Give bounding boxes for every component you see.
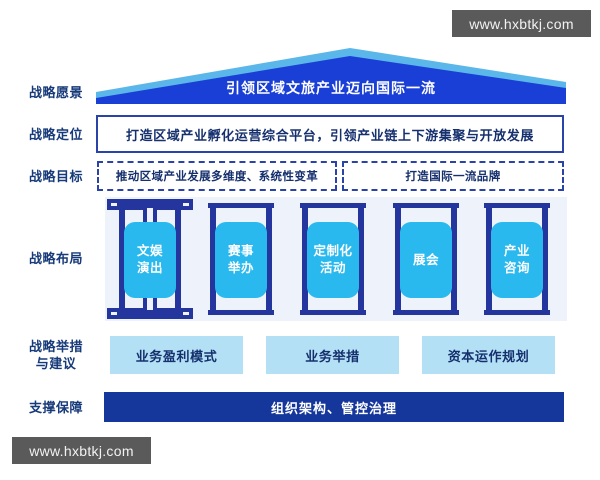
- measure-box-business-actions: 业务举措: [266, 336, 399, 374]
- measure-box-profit-model: 业务盈利模式: [110, 336, 243, 374]
- measure-text-profit-model: 业务盈利模式: [136, 346, 218, 365]
- goal-text-1: 推动区域产业发展多维度、系统性变革: [116, 168, 318, 184]
- pillar-cap-industry-consulting: 产业咨询: [491, 222, 543, 298]
- pillar-text-entertainment: 文娱演出: [137, 243, 163, 277]
- pillar-text-events: 赛事举办: [228, 243, 254, 277]
- row-label-vision: 战略愿景: [16, 84, 96, 101]
- positioning-text: 打造区域产业孵化运营综合平台，引领产业链上下游集聚与开放发展: [126, 125, 534, 144]
- foundation-text: 组织架构、管控治理: [271, 398, 397, 417]
- row-label-goals: 战略目标: [16, 168, 96, 185]
- row-label-positioning: 战略定位: [16, 126, 96, 143]
- measure-text-capital-plan: 资本运作规划: [448, 346, 530, 365]
- measure-text-business-actions: 业务举措: [305, 346, 359, 365]
- row-label-measures: 战略举措与建议: [16, 338, 96, 372]
- watermark-top: www.hxbtkj.com: [452, 10, 591, 37]
- pillar-entertainment: 文娱演出: [107, 197, 193, 321]
- pillar-cap-entertainment: 文娱演出: [124, 222, 176, 298]
- pillar-custom-activities: 定制化活动: [290, 197, 376, 321]
- pillar-exhibition: 展会: [383, 197, 469, 321]
- pillar-cap-exhibition: 展会: [400, 222, 452, 298]
- pillar-cap-custom-activities: 定制化活动: [307, 222, 359, 298]
- pillar-text-exhibition: 展会: [413, 252, 439, 269]
- watermark-bottom: www.hxbtkj.com: [12, 437, 151, 464]
- measure-box-capital-plan: 资本运作规划: [422, 336, 555, 374]
- pillar-events: 赛事举办: [198, 197, 284, 321]
- pillar-cap-events: 赛事举办: [215, 222, 267, 298]
- pillar-text-custom-activities: 定制化活动: [313, 243, 352, 277]
- row-label-layout: 战略布局: [16, 250, 96, 267]
- pillar-text-industry-consulting: 产业咨询: [504, 243, 530, 277]
- positioning-box: 打造区域产业孵化运营综合平台，引领产业链上下游集聚与开放发展: [96, 115, 564, 153]
- goal-box-1: 推动区域产业发展多维度、系统性变革: [97, 161, 337, 191]
- goal-box-2: 打造国际一流品牌: [342, 161, 564, 191]
- vision-text: 引领区域文旅产业迈向国际一流: [96, 78, 566, 98]
- goal-text-2: 打造国际一流品牌: [405, 168, 500, 184]
- foundation-bar: 组织架构、管控治理: [104, 392, 564, 422]
- row-label-support: 支撑保障: [16, 399, 96, 416]
- strategy-framework-diagram: 战略愿景 战略定位 战略目标 战略布局 战略举措与建议 支撑保障 引领区域文旅产…: [0, 0, 600, 480]
- pillar-industry-consulting: 产业咨询: [474, 197, 560, 321]
